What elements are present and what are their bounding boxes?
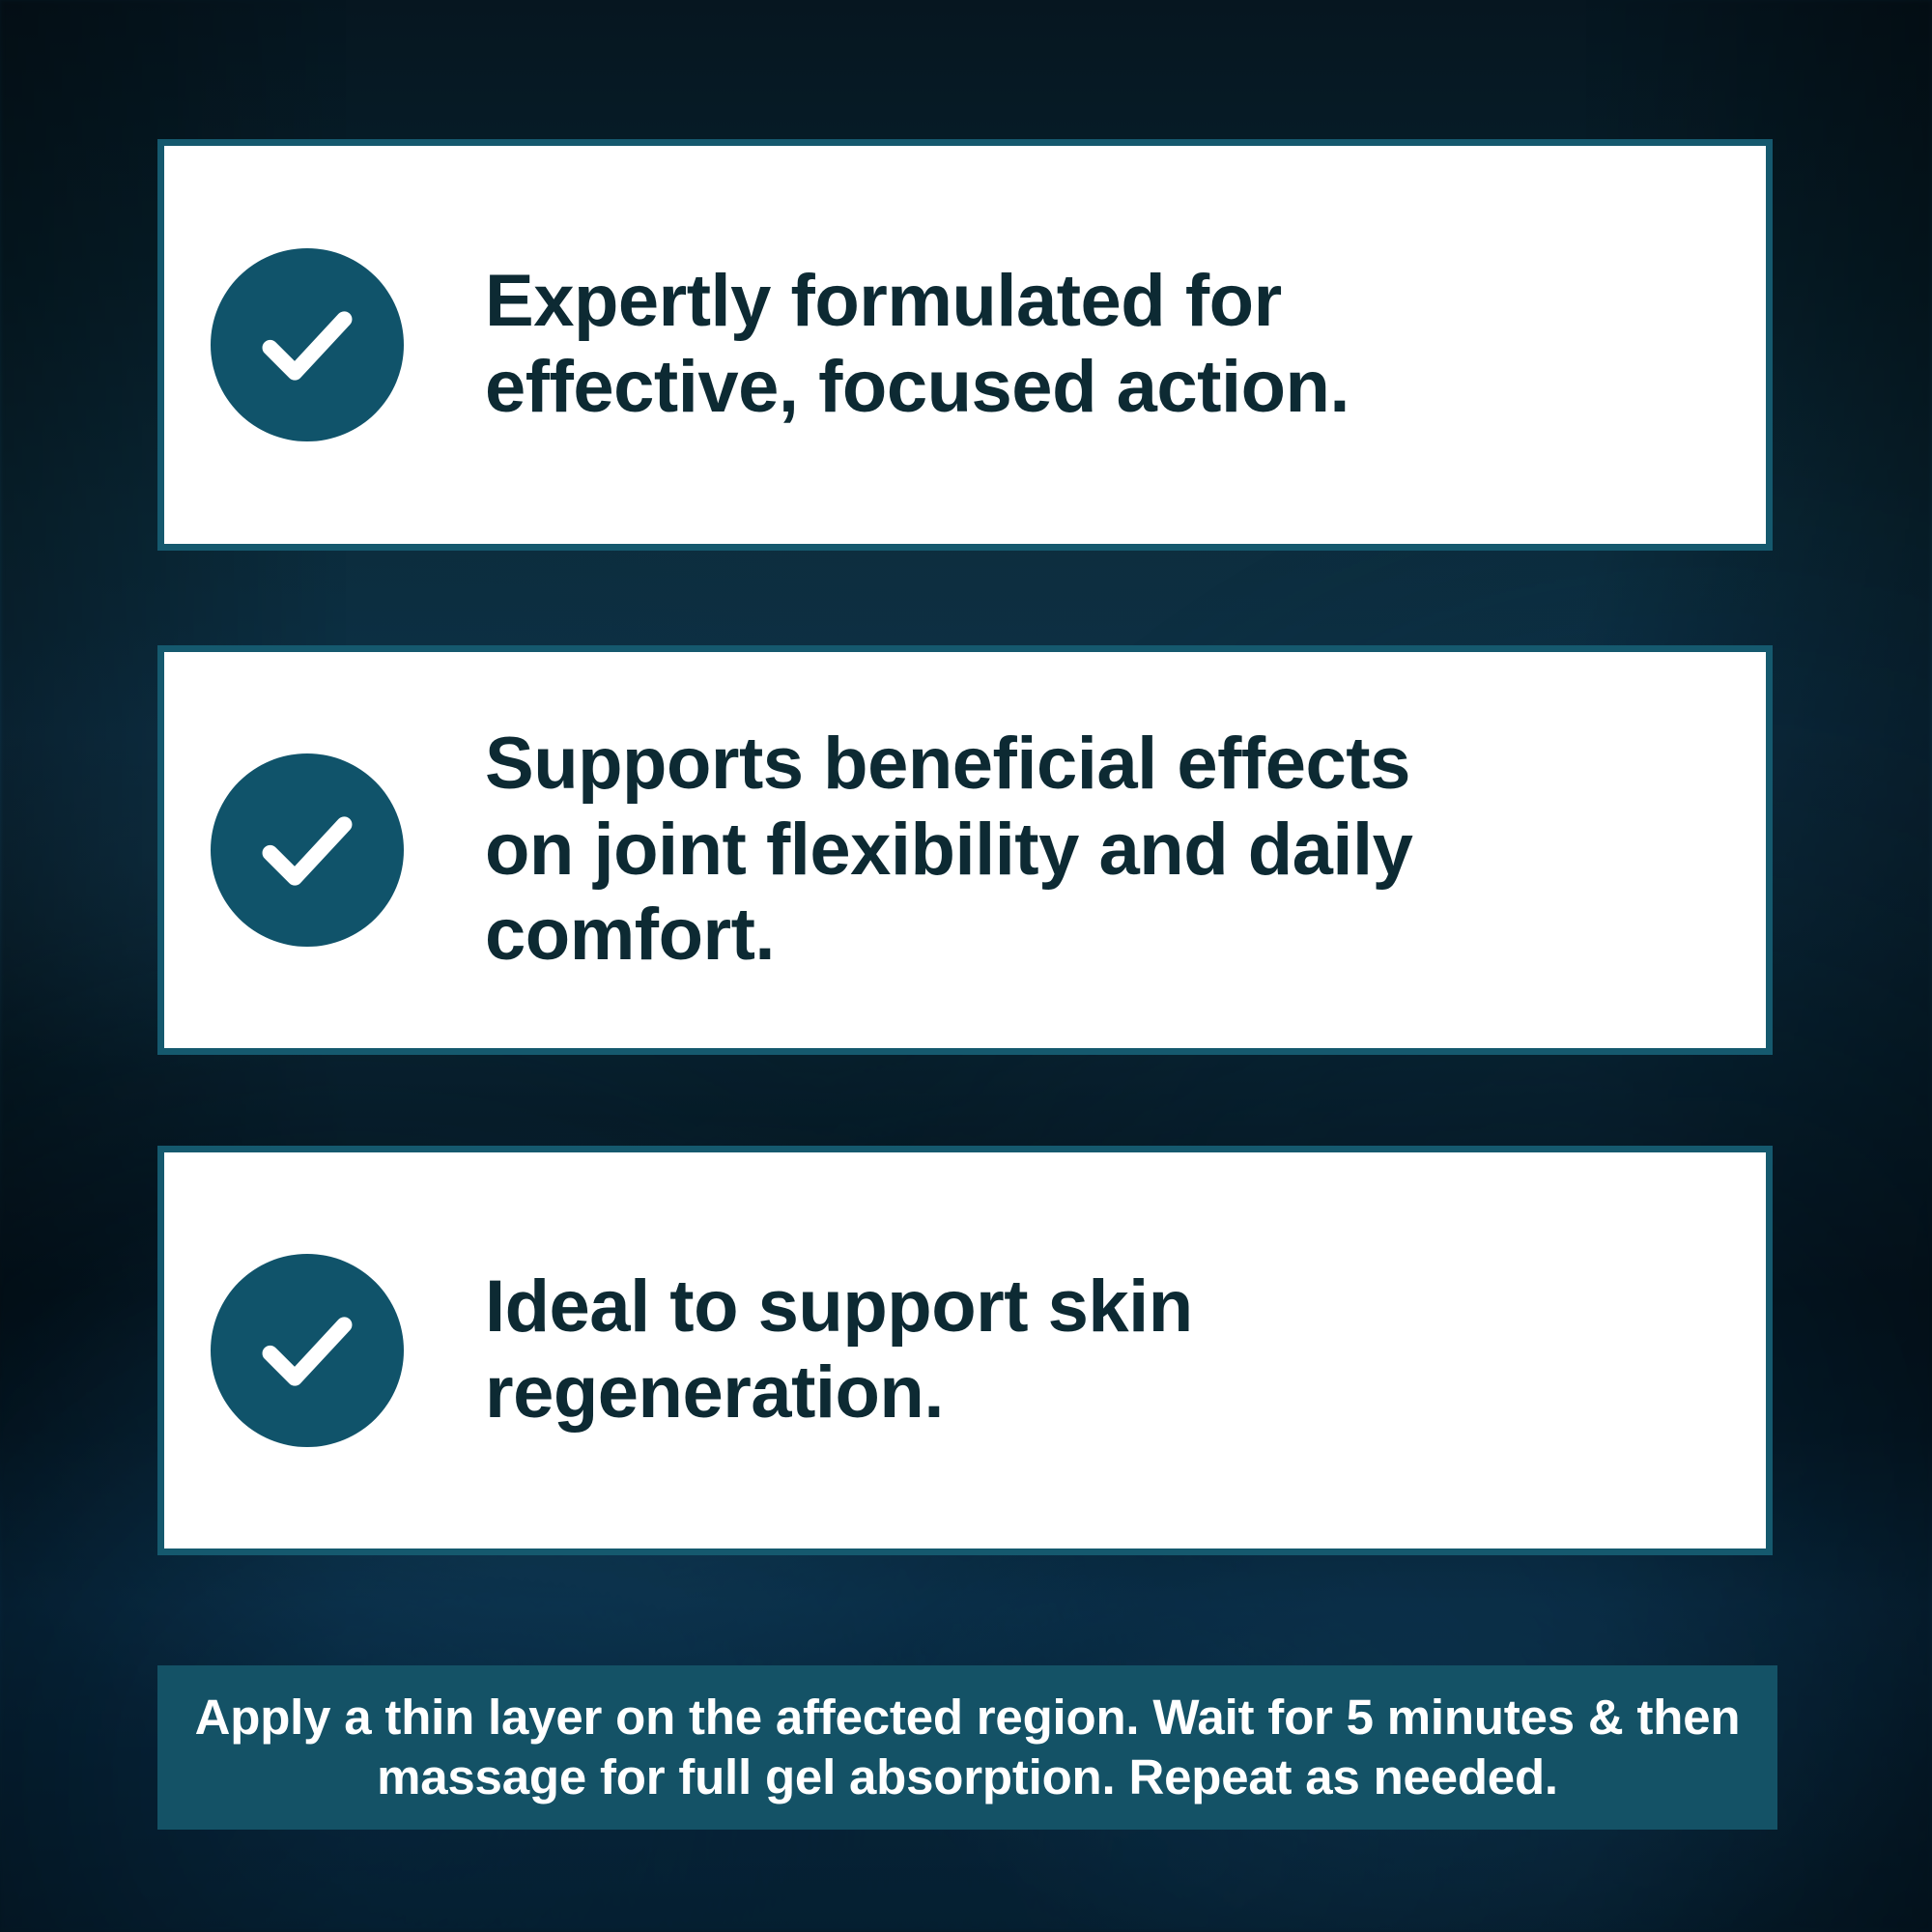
benefit-card-2: Supports beneficial effects on joint fle… [157,645,1773,1055]
instruction-banner: Apply a thin layer on the affected regio… [157,1665,1777,1830]
check-mark-icon [211,248,404,441]
benefit-card-2-text: Supports beneficial effects on joint fle… [485,722,1509,980]
benefit-card-3: Ideal to support skin regeneration. [157,1146,1773,1555]
benefit-card-1-text: Expertly formulated for effective, focus… [485,259,1451,431]
check-mark-icon [211,1254,404,1447]
benefit-card-3-text: Ideal to support skin regeneration. [485,1264,1451,1436]
content-stage: Expertly formulated for effective, focus… [0,0,1932,1932]
benefit-card-1: Expertly formulated for effective, focus… [157,139,1773,551]
check-mark-icon [211,753,404,947]
instruction-banner-text: Apply a thin layer on the affected regio… [183,1688,1752,1806]
